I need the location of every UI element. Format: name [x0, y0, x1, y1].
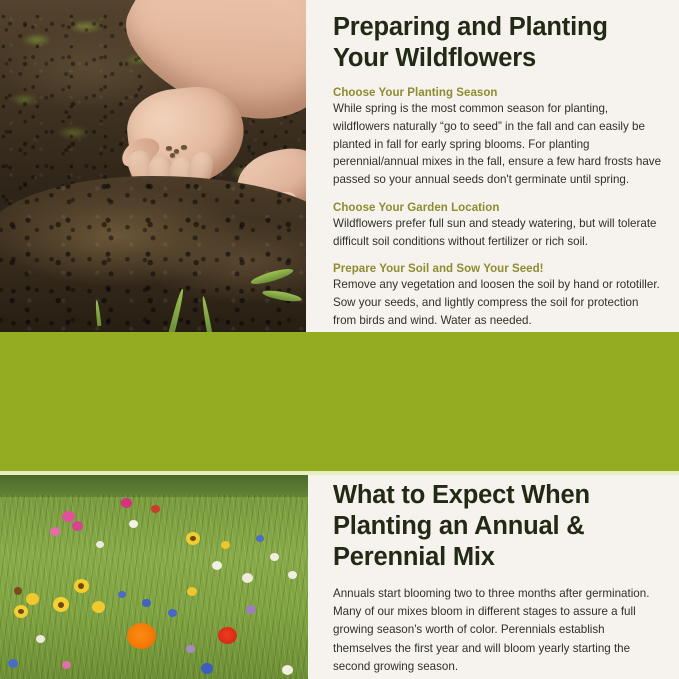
- flower-center: [18, 609, 24, 614]
- subheading-garden-location: Choose Your Garden Location: [333, 202, 663, 214]
- flower-magenta: [121, 498, 132, 508]
- flower-white: [270, 553, 279, 561]
- flower-white: [242, 573, 253, 583]
- flower-blue: [8, 659, 18, 668]
- flower-yellow: [187, 587, 197, 596]
- flower-blue: [256, 535, 264, 542]
- section-title-what-to-expect: What to Expect When Planting an Annual &…: [333, 480, 653, 573]
- flower-yellow: [26, 593, 39, 605]
- flower-blue: [201, 663, 213, 674]
- foreground-soil-texture: [0, 176, 306, 332]
- meadow-grass-texture: [0, 495, 308, 679]
- paragraph-garden-location: Wildflowers prefer full sun and steady w…: [333, 215, 663, 250]
- wildflower-meadow-photo: [0, 475, 308, 679]
- flower-blue: [118, 591, 126, 598]
- subheading-planting-season: Choose Your Planting Season: [333, 87, 663, 99]
- flower-red: [151, 505, 160, 513]
- flower-pink: [62, 511, 75, 522]
- flower-pink: [62, 661, 71, 669]
- flower-orange: [127, 623, 156, 649]
- subheading-prepare-soil: Prepare Your Soil and Sow Your Seed!: [333, 263, 663, 275]
- hand-sowing-seeds-photo: [0, 0, 306, 332]
- flower-brown: [14, 587, 22, 595]
- page-title-preparing: Preparing and Planting Your Wildflowers: [333, 12, 663, 74]
- flower-pink: [50, 527, 60, 536]
- paragraph-planting-season: While spring is the most common season f…: [333, 100, 663, 189]
- flower-pink: [72, 521, 83, 531]
- flower-center: [58, 602, 64, 608]
- flower-red-poppy: [218, 627, 237, 644]
- flower-lilac: [246, 605, 256, 614]
- section-storing-your-seeds: Storing Your Seeds Store your seeds in a…: [0, 332, 679, 471]
- flower-white: [212, 561, 222, 570]
- flower-center: [190, 536, 196, 541]
- expectations-text-column: What to Expect When Planting an Annual &…: [333, 480, 653, 676]
- flower-center: [78, 583, 84, 589]
- flower-yellow: [221, 541, 230, 549]
- flower-blue: [142, 599, 151, 607]
- flower-yellow: [92, 601, 105, 613]
- flower-lilac: [186, 645, 195, 653]
- infographic-page: Preparing and Planting Your Wildflowers …: [0, 0, 679, 679]
- flower-blue: [168, 609, 177, 617]
- flower-white: [129, 520, 138, 528]
- paragraph-prepare-soil: Remove any vegetation and loosen the soi…: [333, 276, 663, 329]
- section-preparing-and-planting: Preparing and Planting Your Wildflowers …: [0, 0, 679, 332]
- seed-in-palm: [170, 153, 175, 157]
- seed-in-palm: [174, 149, 179, 153]
- preparing-text-column: Preparing and Planting Your Wildflowers …: [333, 12, 663, 330]
- flower-white: [288, 571, 297, 579]
- seed-in-palm: [181, 145, 187, 149]
- flower-white: [282, 665, 293, 675]
- paragraph-what-to-expect: Annuals start blooming two to three mont…: [333, 585, 653, 675]
- seed-in-palm: [166, 146, 172, 150]
- flower-white: [96, 541, 104, 548]
- flower-white: [36, 635, 45, 643]
